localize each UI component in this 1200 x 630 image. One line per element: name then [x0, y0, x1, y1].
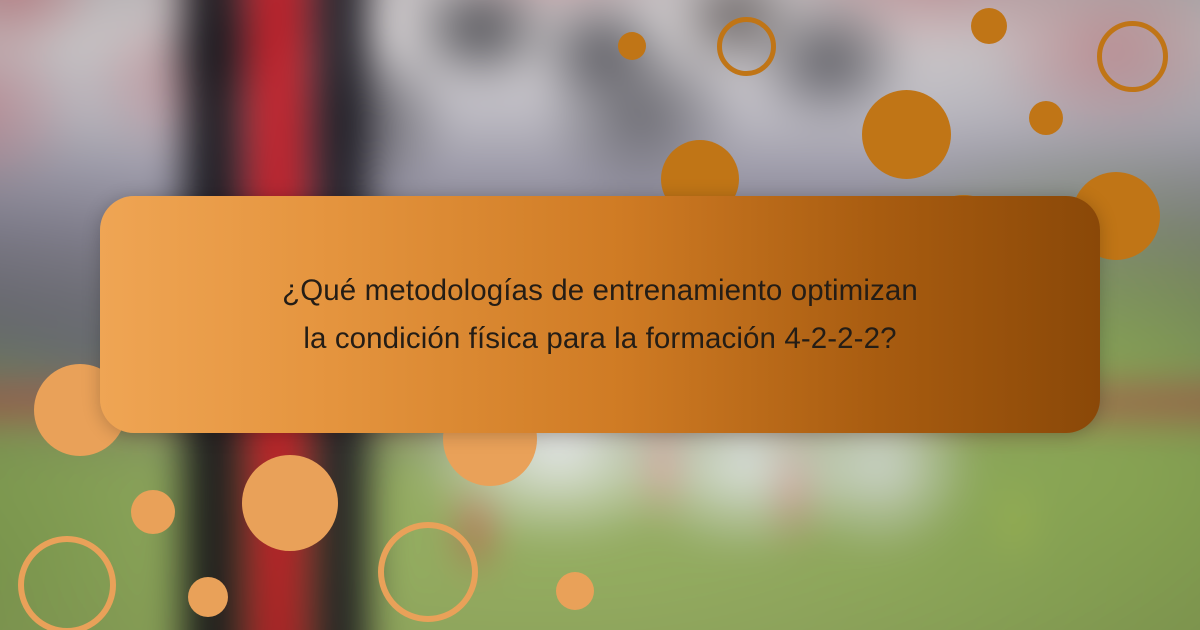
orange-dot-cluster-bottom-left-dot: [18, 536, 116, 630]
headline-line-1: ¿Qué metodologías de entrenamiento optim…: [190, 267, 1010, 315]
orange-dot-cluster-bottom-left-dot: [378, 522, 478, 622]
orange-dot-cluster-top-right-dot: [717, 17, 776, 76]
headline-line-2: la condición física para la formación 4-…: [190, 315, 1010, 363]
orange-dot-cluster-top-right-dot: [1029, 101, 1063, 135]
orange-dot-cluster-bottom-left-dot: [131, 490, 175, 534]
orange-dot-cluster-top-right-dot: [1097, 21, 1168, 92]
orange-dot-cluster-top-right-dot: [862, 90, 951, 179]
headline-banner: ¿Qué metodologías de entrenamiento optim…: [100, 196, 1100, 433]
orange-dot-cluster-top-right-dot: [971, 8, 1007, 44]
orange-dot-cluster-bottom-left-dot: [242, 455, 338, 551]
orange-dot-cluster-top-right-dot: [618, 32, 646, 60]
headline-text: ¿Qué metodologías de entrenamiento optim…: [190, 267, 1010, 363]
share-card: ¿Qué metodologías de entrenamiento optim…: [0, 0, 1200, 630]
orange-dot-cluster-bottom-left-dot: [556, 572, 594, 610]
orange-dot-cluster-bottom-left-dot: [188, 577, 228, 617]
